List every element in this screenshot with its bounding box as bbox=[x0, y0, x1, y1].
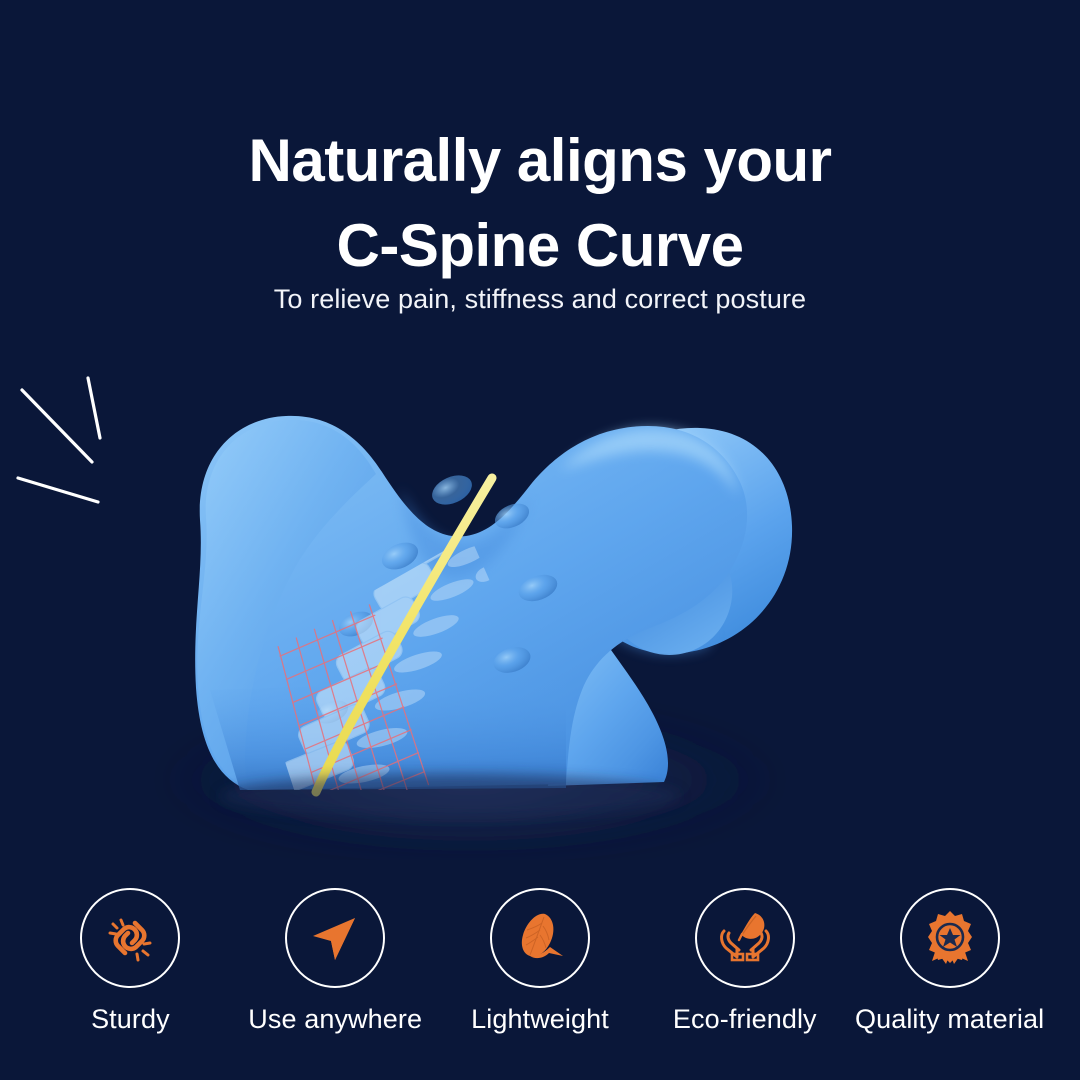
hands-holding-leaf-icon bbox=[715, 909, 775, 967]
product-banner: Naturally aligns your C-Spine Curve To r… bbox=[0, 0, 1080, 1080]
feature-list: Sturdy Use anywhere bbox=[0, 888, 1080, 1048]
feature-item-use-anywhere[interactable]: Use anywhere bbox=[233, 888, 438, 1048]
feature-item-sturdy[interactable]: Sturdy bbox=[28, 888, 233, 1048]
headline-line-2: C-Spine Curve bbox=[0, 203, 1080, 288]
feature-icon-circle bbox=[80, 888, 180, 988]
feature-label: Quality material bbox=[855, 1004, 1044, 1035]
feature-icon-circle bbox=[900, 888, 1000, 988]
broken-chain-icon bbox=[102, 910, 158, 966]
feature-item-eco-friendly[interactable]: Eco-friendly bbox=[642, 888, 847, 1048]
feature-icon-circle bbox=[490, 888, 590, 988]
sparkle-lines-icon bbox=[18, 378, 100, 502]
feature-icon-circle bbox=[285, 888, 385, 988]
feature-label: Use anywhere bbox=[248, 1004, 422, 1035]
page-title: Naturally aligns your C-Spine Curve bbox=[0, 118, 1080, 288]
feature-item-quality-material[interactable]: Quality material bbox=[847, 888, 1052, 1048]
feather-icon bbox=[511, 909, 569, 967]
product-illustration bbox=[0, 360, 1080, 860]
product-image bbox=[0, 360, 1080, 860]
product-contact-shadow bbox=[220, 774, 680, 818]
feature-label: Lightweight bbox=[471, 1004, 609, 1035]
feature-icon-circle bbox=[695, 888, 795, 988]
feature-label: Sturdy bbox=[91, 1004, 170, 1035]
feature-label: Eco-friendly bbox=[673, 1004, 817, 1035]
paper-plane-icon bbox=[307, 910, 363, 966]
award-badge-icon bbox=[922, 909, 978, 967]
headline-line-1: Naturally aligns your bbox=[0, 118, 1080, 203]
page-subtitle: To relieve pain, stiffness and correct p… bbox=[0, 284, 1080, 315]
feature-item-lightweight[interactable]: Lightweight bbox=[438, 888, 643, 1048]
